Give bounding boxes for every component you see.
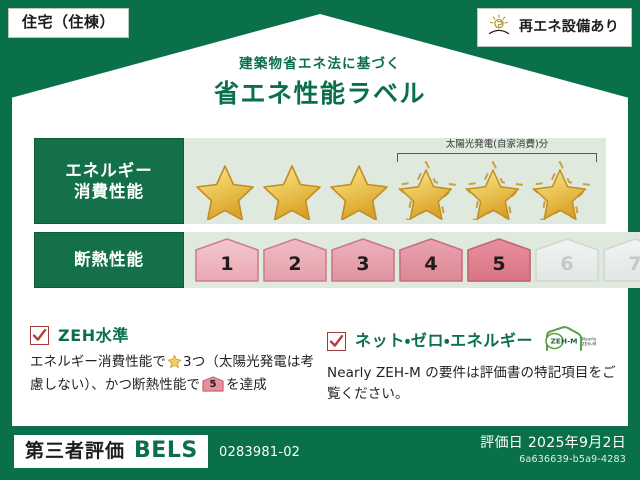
inline-grade-badge: 5 bbox=[202, 376, 224, 392]
zeh-m-house-logo: ZEH-M Nearly ZEH-M bbox=[544, 326, 598, 356]
zeh-standard-title: ZEH水準 bbox=[58, 328, 129, 344]
insulation-grade-5: 5 bbox=[466, 237, 532, 283]
bels-brand: BELS bbox=[134, 440, 198, 462]
title-block: 建築物省エネ法に基づく 省エネ性能ラベル bbox=[0, 56, 640, 109]
evaluation-date: 評価日 2025年9月2日 bbox=[480, 436, 626, 451]
star-solar-6 bbox=[527, 158, 593, 220]
insulation-grade-3-number: 3 bbox=[330, 237, 396, 283]
insulation-grade-7: 7 bbox=[602, 237, 640, 283]
star-solar-5 bbox=[460, 158, 526, 220]
svg-text:ZEH-M: ZEH-M bbox=[582, 342, 597, 347]
energy-performance-row: エネルギー 消費性能 太陽光発電(自家消費)分 bbox=[34, 138, 606, 224]
insulation-label: 断熱性能 bbox=[74, 249, 144, 270]
criterion-net-zero-energy: ネット・ゼロ・エネルギー ZEH-M Nearly ZEH-M Nearly Z… bbox=[327, 326, 616, 405]
zeh-desc-part1: エネルギー消費性能で bbox=[30, 354, 166, 370]
insulation-grade-4-number: 4 bbox=[398, 237, 464, 283]
solar-annotation-label: 太陽光発電(自家消費)分 bbox=[397, 140, 597, 150]
net-zero-energy-title: ネット・ゼロ・エネルギー bbox=[355, 333, 533, 349]
star-solid-1 bbox=[192, 158, 258, 220]
insulation-grade-6: 6 bbox=[534, 237, 600, 283]
inline-grade-number: 5 bbox=[202, 376, 224, 392]
criterion-zeh-standard: ZEH水準 エネルギー消費性能で3つ（太陽光発電は考慮しない）、かつ断熱性能で5… bbox=[30, 326, 319, 405]
energy-performance-row-label: エネルギー 消費性能 bbox=[34, 138, 184, 224]
insulation-grade-2: 2 bbox=[262, 237, 328, 283]
insulation-grade-area: 1 2 3 bbox=[184, 232, 640, 288]
energy-performance-label: 住宅（住棟） 再エネ設備あり 建築物省エネ法に基づく 省エネ性能ラベル bbox=[0, 0, 640, 480]
label-subtitle: 建築物省エネ法に基づく bbox=[0, 56, 640, 72]
energy-performance-stars-area: 太陽光発電(自家消費)分 bbox=[184, 138, 606, 224]
solar-annotation-bracket bbox=[397, 153, 597, 162]
net-zero-energy-checkbox bbox=[327, 332, 346, 351]
star-solar-4 bbox=[393, 158, 459, 220]
bels-certification-chip: 第三者評価 BELS bbox=[14, 435, 208, 468]
performance-rows: エネルギー 消費性能 太陽光発電(自家消費)分 bbox=[34, 138, 606, 296]
insulation-performance-row-label: 断熱性能 bbox=[34, 232, 184, 288]
solar-contribution-annotation: 太陽光発電(自家消費)分 bbox=[397, 140, 597, 162]
energy-label-line1: エネルギー bbox=[65, 160, 153, 181]
criteria-section: ZEH水準 エネルギー消費性能で3つ（太陽光発電は考慮しない）、かつ断熱性能で5… bbox=[30, 326, 616, 405]
insulation-grade-4: 4 bbox=[398, 237, 464, 283]
zeh-standard-checkbox bbox=[30, 326, 49, 345]
insulation-grade-1: 1 bbox=[194, 237, 260, 283]
footer-bar: 第三者評価 BELS 0283981-02 評価日 2025年9月2日 6a63… bbox=[0, 426, 640, 480]
insulation-performance-row: 断熱性能 bbox=[34, 232, 606, 288]
insulation-grade-scale: 1 2 3 bbox=[184, 237, 640, 283]
footer-right-block: 評価日 2025年9月2日 6a636639-b5a9-4283 bbox=[480, 436, 626, 465]
zeh-desc-part3: を達成 bbox=[226, 377, 267, 393]
insulation-grade-6-number: 6 bbox=[534, 237, 600, 283]
insulation-grade-7-number: 7 bbox=[602, 237, 640, 283]
bels-certificate-number: 0283981-02 bbox=[219, 446, 300, 459]
energy-label-line2: 消費性能 bbox=[74, 181, 144, 202]
criterion-zeh-standard-header: ZEH水準 bbox=[30, 326, 319, 345]
svg-text:ZEH-M: ZEH-M bbox=[551, 336, 578, 345]
insulation-grade-3: 3 bbox=[330, 237, 396, 283]
renewable-equipment-badge: 再エネ設備あり bbox=[477, 8, 632, 47]
star-solid-2 bbox=[259, 158, 325, 220]
bels-label: 第三者評価 bbox=[25, 442, 125, 461]
net-zero-energy-description: Nearly ZEH-M の要件は評価書の特記項目をご覧ください。 bbox=[327, 363, 616, 405]
insulation-grade-5-number: 5 bbox=[466, 237, 532, 283]
category-chip-label: 住宅（住棟） bbox=[22, 13, 115, 31]
star-solid-3 bbox=[326, 158, 392, 220]
category-chip: 住宅（住棟） bbox=[8, 8, 129, 38]
renewable-equipment-badge-label: 再エネ設備あり bbox=[519, 20, 619, 34]
star-rating bbox=[184, 158, 593, 224]
insulation-grade-1-number: 1 bbox=[194, 237, 260, 283]
page-title: 省エネ性能ラベル bbox=[0, 80, 640, 109]
criterion-net-zero-energy-header: ネット・ゼロ・エネルギー ZEH-M Nearly ZEH-M bbox=[327, 326, 616, 356]
sun-renewable-icon bbox=[488, 14, 512, 40]
insulation-grade-2-number: 2 bbox=[262, 237, 328, 283]
zeh-standard-description: エネルギー消費性能で3つ（太陽光発電は考慮しない）、かつ断熱性能で5を達成 bbox=[30, 352, 319, 396]
inline-star-icon bbox=[167, 353, 182, 375]
evaluation-id: 6a636639-b5a9-4283 bbox=[480, 455, 626, 465]
